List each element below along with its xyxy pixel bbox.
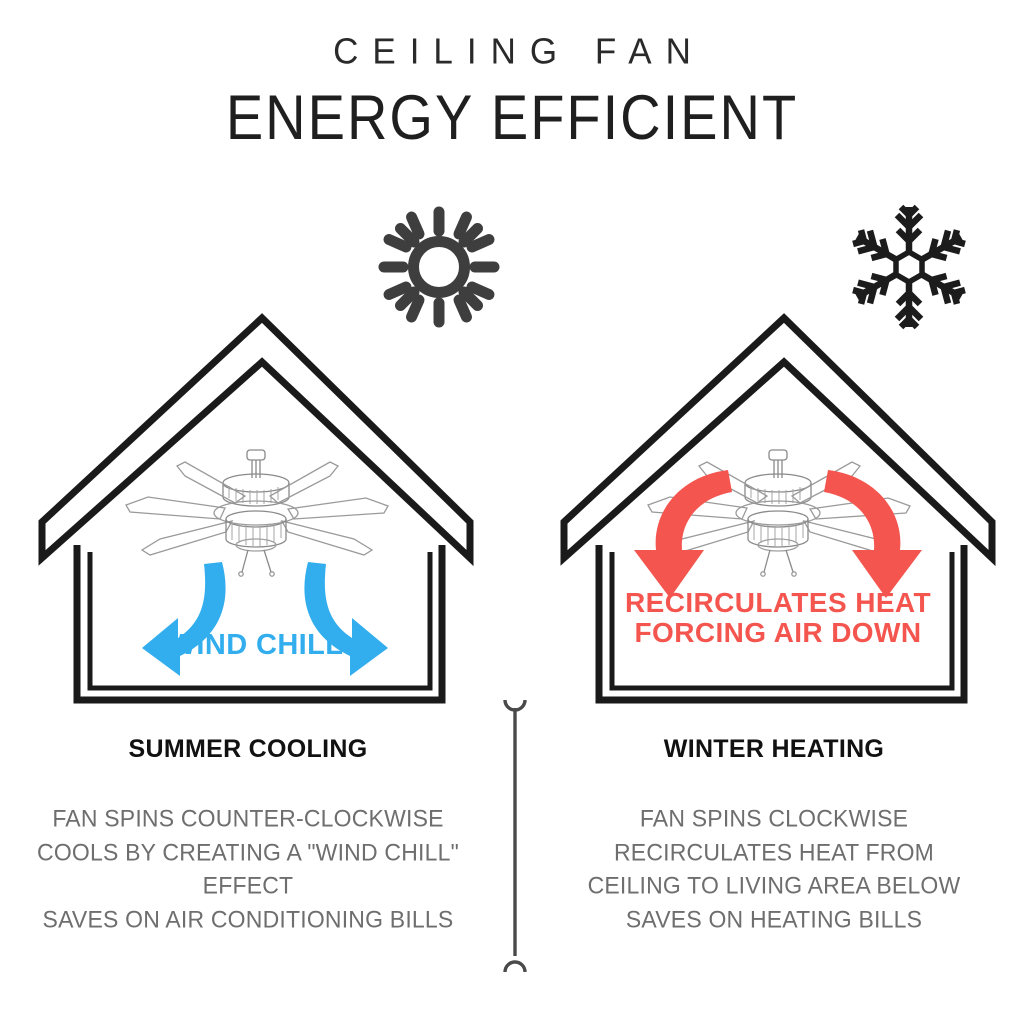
kicker-title: CEILING FAN [0, 33, 1024, 71]
wind-chill-label: WIND CHILL [30, 630, 482, 661]
summer-text-column: SUMMER COOLING FAN SPINS COUNTER-CLOCKWI… [22, 735, 474, 933]
center-divider [498, 694, 532, 980]
summer-body-line-3: SAVES ON AIR CONDITIONING BILLS [22, 903, 474, 937]
header: CEILING FAN ENERGY EFFICIENT [0, 34, 1024, 149]
heat-label-line-1: RECIRCULATES HEAT [552, 588, 1004, 618]
winter-text-column: WINTER HEATING FAN SPINS CLOCKWISE RECIR… [548, 735, 1000, 933]
recirculates-heat-label: RECIRCULATES HEAT FORCING AIR DOWN [552, 588, 1004, 648]
winter-house-illustration: RECIRCULATES HEAT FORCING AIR DOWN [552, 300, 1004, 720]
winter-body-line-3: SAVES ON HEATING BILLS [548, 903, 1000, 937]
winter-body-line-2: RECIRCULATES HEAT FROM CEILING TO LIVING… [548, 836, 1000, 903]
summer-body-line-1: FAN SPINS COUNTER-CLOCKWISE [22, 802, 474, 836]
summer-house-illustration: WIND CHILL [30, 300, 482, 720]
winter-body-line-1: FAN SPINS CLOCKWISE [548, 802, 1000, 836]
winter-body: FAN SPINS CLOCKWISE RECIRCULATES HEAT FR… [548, 802, 1000, 937]
winter-heading: WINTER HEATING [548, 735, 1000, 764]
summer-body: FAN SPINS COUNTER-CLOCKWISE COOLS BY CRE… [22, 802, 474, 937]
heat-arrow-left [634, 470, 732, 598]
summer-heading: SUMMER COOLING [22, 735, 474, 764]
page-title: ENERGY EFFICIENT [0, 83, 1024, 153]
ceiling-fan-icon [126, 450, 388, 576]
infographic-canvas: CEILING FAN ENERGY EFFICIENT [0, 0, 1024, 1024]
heat-arrow-right [824, 470, 922, 598]
summer-body-line-2: COOLS BY CREATING A "WIND CHILL" EFFECT [22, 836, 474, 903]
heat-label-line-2: FORCING AIR DOWN [552, 618, 1004, 648]
